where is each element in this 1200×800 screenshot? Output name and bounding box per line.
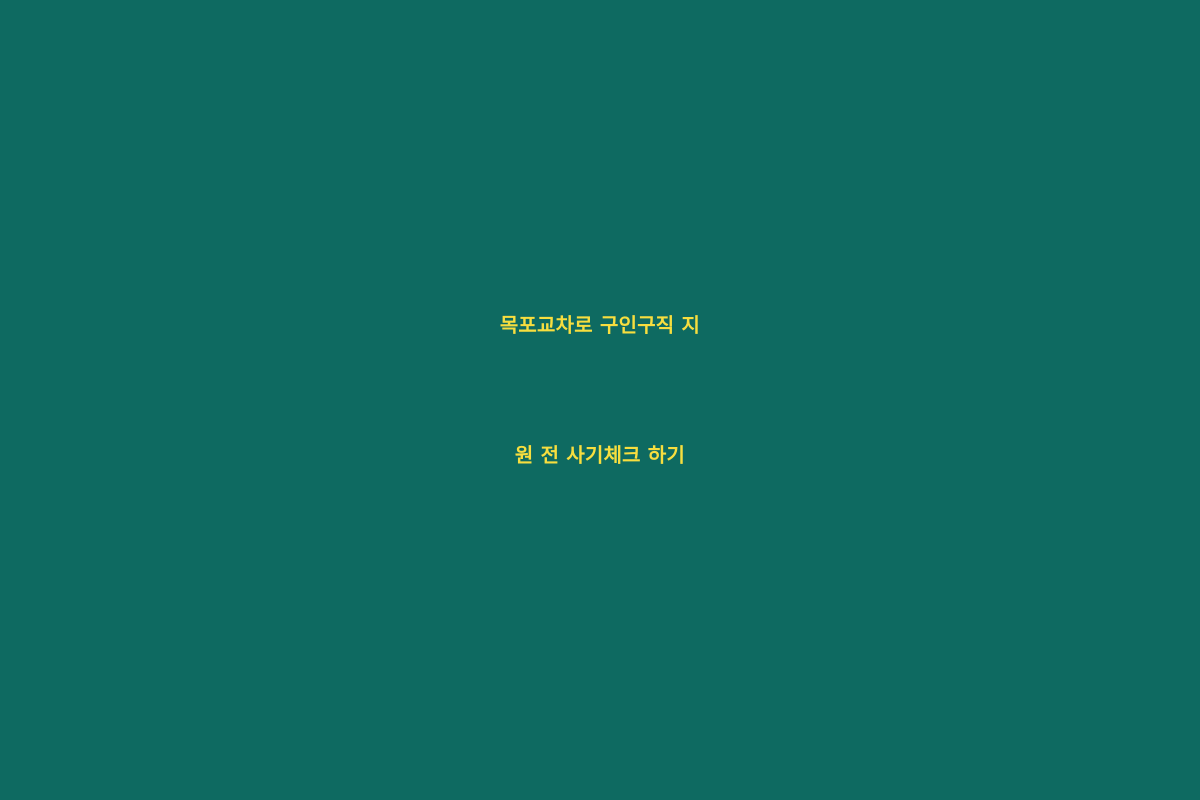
headline-block: 목포교차로 구인구직 지 원 전 사기체크 하기 [0, 260, 1200, 520]
thumbnail-card: 목포교차로 구인구직 지 원 전 사기체크 하기 [0, 0, 1200, 800]
headline-line-2: 원 전 사기체크 하기 [40, 390, 1160, 520]
headline-line-1: 목포교차로 구인구직 지 [40, 260, 1160, 390]
